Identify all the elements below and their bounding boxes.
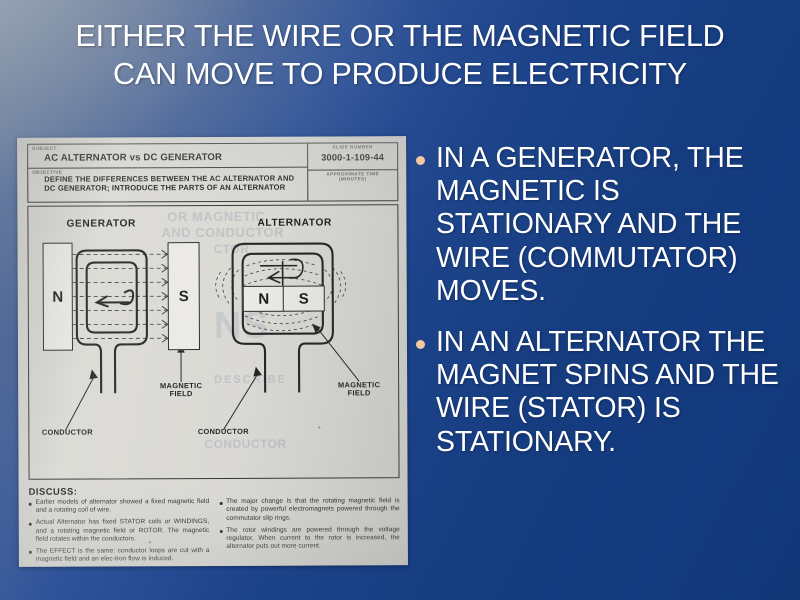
bullet-dot-icon (219, 501, 222, 504)
list-item: IN A GENERATOR, THE MAGNETIC IS STATIONA… (416, 142, 794, 308)
sheet-header-left: SUBJECT AC ALTERNATOR vs DC GENERATOR OB… (28, 144, 307, 202)
subject-cell: SUBJECT AC ALTERNATOR vs DC GENERATOR (28, 144, 307, 169)
discuss-list-item: The rotor windings are powered through t… (219, 526, 400, 552)
discuss-item-text: The major change is that the rotating ma… (226, 497, 400, 523)
subject-value: AC ALTERNATOR vs DC GENERATOR (32, 150, 303, 165)
discuss-left-column: Earlier models of alternator showed a fi… (29, 498, 210, 567)
paper-speck (318, 427, 320, 429)
discuss-item-text: The rotor windings are powered through t… (226, 526, 400, 552)
bullet-dot-icon (29, 502, 32, 505)
page-title: EITHER THE WIRE OR THE MAGNETIC FIELD CA… (28, 18, 772, 94)
sheet-header-right: SLIDE NUMBER 3000-1-109-44 APPROXIMATE T… (307, 143, 397, 200)
approximate-time-cell: APPROXIMATE TIME (MINUTES) (308, 170, 397, 200)
alternator-magnetic-field-label: MAGNETIC FIELD (329, 381, 389, 398)
bullet-dot-icon (29, 522, 32, 525)
bullet-dot-icon (416, 340, 425, 349)
approximate-time-caption-2: (MINUTES) (312, 176, 393, 181)
slide-number-value: 3000-1-109-44 (312, 149, 393, 166)
discuss-right-column: The major change is that the rotating ma… (219, 497, 400, 566)
bullet-text: IN AN ALTERNATOR THE MAGNET SPINS AND TH… (436, 326, 794, 459)
presentation-slide: EITHER THE WIRE OR THE MAGNETIC FIELD CA… (0, 0, 800, 600)
list-item: IN AN ALTERNATOR THE MAGNET SPINS AND TH… (416, 326, 794, 459)
slide-bullet-list: IN A GENERATOR, THE MAGNETIC IS STATIONA… (416, 142, 794, 477)
title-line-1: EITHER THE WIRE OR THE MAGNETIC FIELD (28, 18, 772, 56)
discuss-item-text: The EFFECT is the same: conductor loops … (36, 547, 210, 565)
paper-speck (149, 541, 151, 543)
alternator-north-pole-magnet: N (243, 286, 284, 312)
alternator-magnetic-field-label-line2: FIELD (348, 389, 371, 398)
training-sheet-photo: OR MAGNETIC AND CONDUCTOR CTOR N S CONDU… (17, 136, 408, 567)
slide-number-cell: SLIDE NUMBER 3000-1-109-44 (308, 143, 397, 170)
discuss-section: DISCUSS: Earlier models of alternator sh… (29, 484, 400, 558)
generator-south-pole-magnet: S (168, 242, 200, 350)
sheet-header-table: SUBJECT AC ALTERNATOR vs DC GENERATOR OB… (27, 142, 398, 203)
objective-cell: OBJECTIVE DEFINE THE DIFFERENCES BETWEEN… (28, 168, 307, 198)
discuss-item-text: Earlier models of alternator showed a fi… (36, 498, 210, 516)
bullet-dot-icon (219, 530, 222, 533)
discuss-list-item: The major change is that the rotating ma… (219, 497, 400, 523)
generator-north-pole-magnet: N (43, 243, 73, 351)
discuss-item-text: Actual Alternator has fixed STATOR coils… (36, 518, 210, 544)
objective-value: DEFINE THE DIFFERENCES BETWEEN THE AC AL… (32, 174, 303, 195)
title-line-2: CAN MOVE TO PRODUCE ELECTRICITY (28, 56, 772, 94)
diagram-frame: GENERATOR (27, 204, 399, 480)
bullet-dot-icon (416, 156, 425, 165)
discuss-list-item: Earlier models of alternator showed a fi… (29, 498, 210, 516)
discuss-heading: DISCUSS: (29, 484, 400, 497)
alternator-conductor-label: CONDUCTOR (191, 428, 255, 437)
alternator-diagram-drawing (28, 205, 399, 479)
bullet-text: IN A GENERATOR, THE MAGNETIC IS STATIONA… (436, 142, 794, 308)
bullet-dot-icon (29, 551, 32, 554)
discuss-list-item: The EFFECT is the same: conductor loops … (29, 547, 210, 565)
discuss-list-item: Actual Alternator has fixed STATOR coils… (29, 518, 210, 544)
alternator-south-pole-magnet: S (283, 286, 325, 312)
